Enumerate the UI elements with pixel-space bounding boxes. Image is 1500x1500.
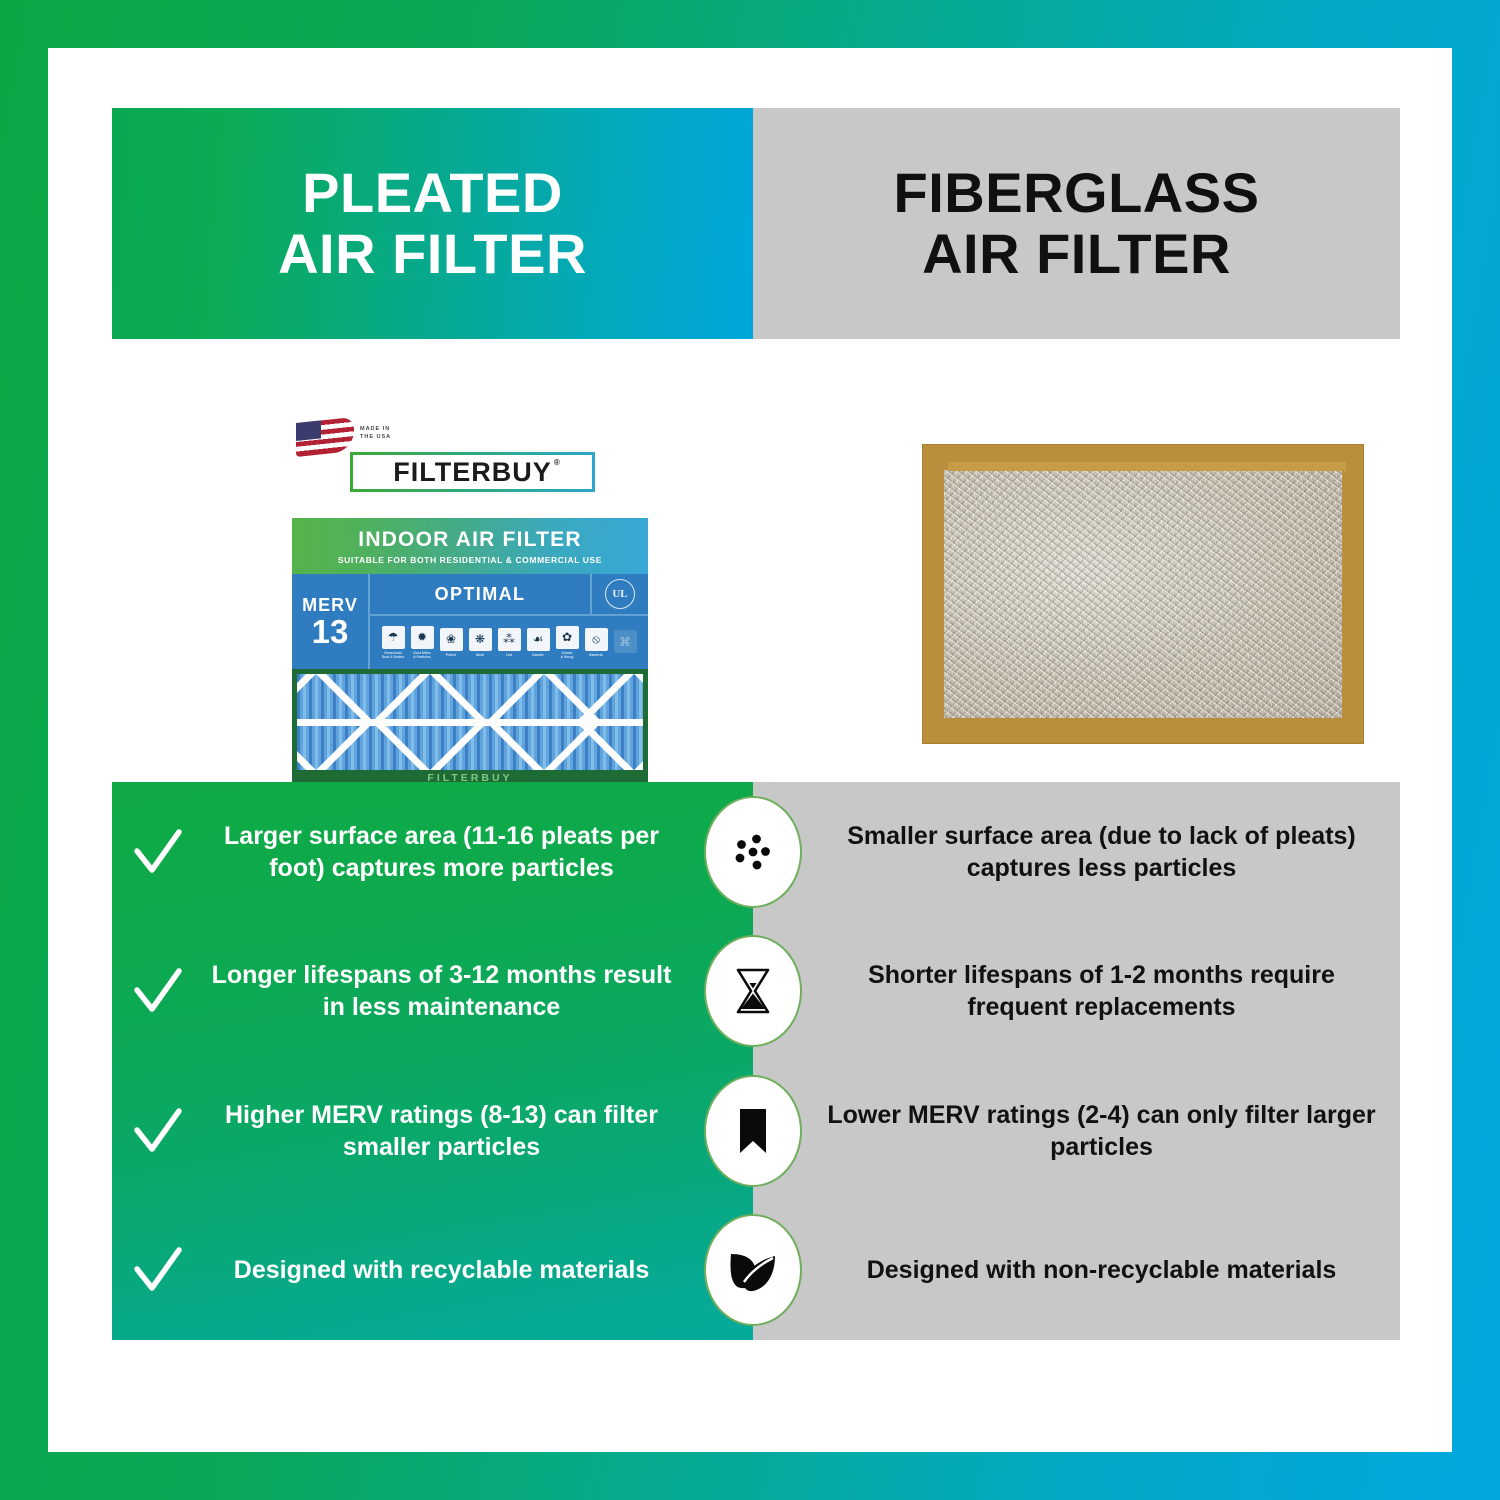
- check-icon: [112, 965, 204, 1017]
- fiberglass-filter-product-image: [922, 444, 1364, 744]
- check-icon: [112, 1244, 204, 1296]
- merv-value: 13: [312, 616, 349, 647]
- benefit-text: Larger surface area (11-16 pleats per fo…: [204, 820, 753, 884]
- pleat-diamond: [576, 674, 643, 770]
- drawback-text: Smaller surface area (due to lack of ple…: [753, 820, 1400, 884]
- dust-mites-icon-caption: Dust Mites & Particles: [413, 651, 431, 660]
- specs-right: OPTIMAL UL ☂Household Dust & Debris✹Dust…: [370, 574, 648, 669]
- drawback-row: Shorter lifespans of 1-2 months require …: [753, 922, 1400, 1062]
- pleat-diamond: [372, 674, 488, 770]
- check-icon: [112, 826, 204, 878]
- drawback-text: Designed with non-recyclable materials: [753, 1254, 1400, 1286]
- smoke-smog-icon-wrap: ✿Smoke & Smog: [555, 626, 580, 660]
- fiberglass-header: FIBERGLASS AIR FILTER: [753, 108, 1400, 339]
- drawback-row: Lower MERV ratings (2-4) can only filter…: [753, 1061, 1400, 1201]
- extra-icon: ⌘: [614, 630, 637, 653]
- bacteria-icon-wrap: ⦸Bacteria: [584, 628, 609, 657]
- grade-row: OPTIMAL UL: [370, 574, 648, 616]
- bacteria-icon: ⦸: [585, 628, 608, 651]
- fiberglass-header-title: FIBERGLASS AIR FILTER: [894, 163, 1260, 284]
- pleat-field: [297, 674, 643, 770]
- drawback-row: Designed with non-recyclable materials: [753, 1201, 1400, 1341]
- mold-icon-wrap: ❋Mold: [468, 628, 493, 657]
- product-box-top: MADE IN THE USA FILTERBUY ®: [292, 416, 648, 518]
- benefit-row: Designed with recyclable materials: [112, 1201, 753, 1341]
- brand-logo-box: FILTERBUY ®: [350, 452, 595, 492]
- dander-icon-caption: Dander: [532, 653, 544, 657]
- drawback-row: Smaller surface area (due to lack of ple…: [753, 782, 1400, 922]
- fiberglass-drawbacks-column: Smaller surface area (due to lack of ple…: [753, 782, 1400, 1340]
- extra-icon-wrap: ⌘: [613, 630, 638, 655]
- pollen-icon-caption: Pollen: [446, 653, 456, 657]
- made-in-usa-label: MADE IN THE USA: [360, 425, 391, 442]
- particle-icon-strip: ☂Household Dust & Debris✹Dust Mites & Pa…: [370, 616, 648, 669]
- infographic-card: PLEATED AIR FILTER FIBERGLASS AIR FILTER…: [48, 48, 1452, 1452]
- pleated-media-visual: FILTERBUY: [292, 669, 648, 791]
- pleated-header: PLEATED AIR FILTER: [112, 108, 753, 339]
- ul-cell: UL: [590, 574, 648, 614]
- benefit-text: Longer lifespans of 3-12 months result i…: [204, 959, 753, 1023]
- household-dust-icon-wrap: ☂Household Dust & Debris: [381, 626, 406, 660]
- mold-icon-caption: Mold: [476, 653, 484, 657]
- band-subtitle: SUITABLE FOR BOTH RESIDENTIAL & COMMERCI…: [338, 555, 602, 565]
- smoke-smog-icon: ✿: [556, 626, 579, 649]
- header-row: PLEATED AIR FILTER FIBERGLASS AIR FILTER: [112, 108, 1400, 339]
- lint-icon-caption: Lint: [506, 653, 512, 657]
- pleat-diamond: [297, 674, 374, 770]
- dander-icon: ☙: [527, 628, 550, 651]
- bacteria-icon-caption: Bacteria: [589, 653, 602, 657]
- comparison-section: Larger surface area (11-16 pleats per fo…: [112, 782, 1400, 1340]
- drawback-text: Shorter lifespans of 1-2 months require …: [753, 959, 1400, 1023]
- ul-certification-icon: UL: [605, 579, 635, 609]
- pollen-icon: ❀: [440, 628, 463, 651]
- drawback-text: Lower MERV ratings (2-4) can only filter…: [753, 1099, 1400, 1163]
- dander-icon-wrap: ☙Dander: [526, 628, 551, 657]
- pollen-icon-wrap: ❀Pollen: [439, 628, 464, 657]
- benefit-row: Longer lifespans of 3-12 months result i…: [112, 922, 753, 1062]
- product-images-row: MADE IN THE USA FILTERBUY ® INDOOR AIR F…: [112, 339, 1400, 782]
- registered-mark: ®: [554, 458, 561, 467]
- pleated-benefits-column: Larger surface area (11-16 pleats per fo…: [112, 782, 753, 1340]
- grade-label: OPTIMAL: [370, 574, 590, 614]
- fiberglass-media: [944, 470, 1342, 718]
- check-icon: [112, 1105, 204, 1157]
- pleated-header-title: PLEATED AIR FILTER: [278, 163, 587, 284]
- benefit-text: Higher MERV ratings (8-13) can filter sm…: [204, 1099, 753, 1163]
- usa-flag-icon: [296, 417, 354, 457]
- brand-name-label: FILTERBUY ®: [393, 457, 552, 488]
- merv-badge: MERV 13: [292, 574, 370, 669]
- household-dust-icon: ☂: [382, 626, 405, 649]
- band-title: INDOOR AIR FILTER: [358, 528, 581, 552]
- pleated-filter-product-image: MADE IN THE USA FILTERBUY ® INDOOR AIR F…: [292, 416, 648, 791]
- benefit-row: Larger surface area (11-16 pleats per fo…: [112, 782, 753, 922]
- lint-icon: ⁂: [498, 628, 521, 651]
- dust-mites-icon-wrap: ✹Dust Mites & Particles: [410, 626, 435, 660]
- product-box-specs: MERV 13 OPTIMAL UL ☂Household Dust & Deb…: [292, 574, 648, 669]
- mold-icon: ❋: [469, 628, 492, 651]
- brand-name-text: FILTERBUY: [393, 457, 552, 487]
- dust-mites-icon: ✹: [411, 626, 434, 649]
- benefit-text: Designed with recyclable materials: [204, 1254, 753, 1286]
- product-box-band: INDOOR AIR FILTER SUITABLE FOR BOTH RESI…: [292, 518, 648, 574]
- smoke-smog-icon-caption: Smoke & Smog: [561, 651, 574, 660]
- lint-icon-wrap: ⁂Lint: [497, 628, 522, 657]
- benefit-row: Higher MERV ratings (8-13) can filter sm…: [112, 1061, 753, 1201]
- fiberglass-frame-strip: [948, 462, 1346, 471]
- household-dust-icon-caption: Household Dust & Debris: [382, 651, 404, 660]
